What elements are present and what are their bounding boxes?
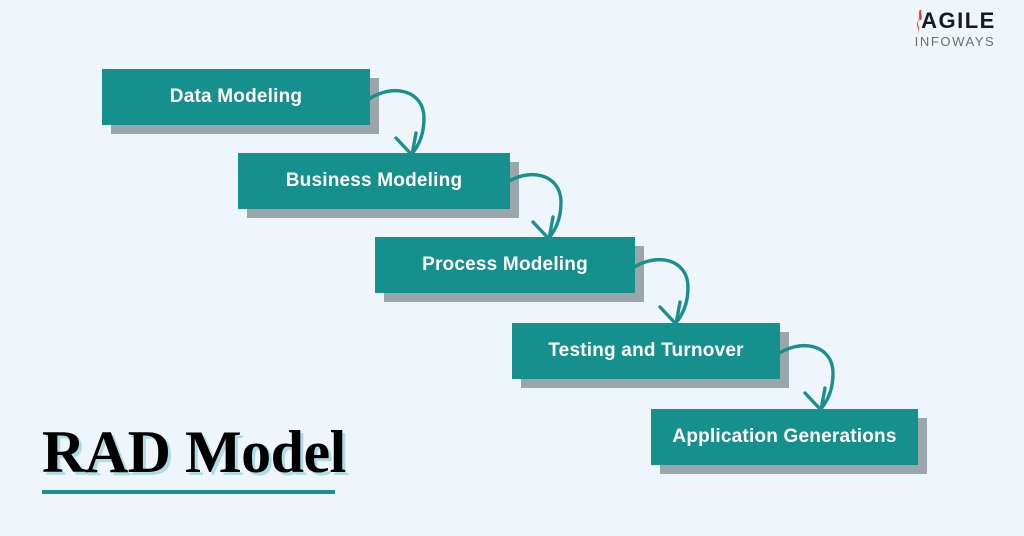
title-block: RAD Model: [42, 420, 372, 494]
flow-node-label: Testing and Turnover: [548, 340, 743, 362]
logo-primary-text: AGILE: [914, 10, 996, 32]
connector-arrow-1: [366, 80, 456, 160]
connector-arrow-3: [630, 249, 720, 329]
diagram-canvas: AGILE INFOWAYS Data Modeling Business Mo…: [0, 0, 1024, 536]
flow-node-testing-and-turnover[interactable]: Testing and Turnover: [512, 323, 780, 379]
connector-arrow-2: [503, 164, 593, 244]
flow-node-label: Process Modeling: [422, 254, 588, 276]
agile-infoways-logo: AGILE INFOWAYS: [900, 10, 1010, 56]
flow-node-label: Application Generations: [672, 426, 896, 448]
flow-node-label: Business Modeling: [286, 170, 463, 192]
logo-swoosh-icon: [913, 8, 927, 34]
flow-node-label: Data Modeling: [170, 86, 302, 108]
title-underline: [42, 490, 335, 494]
flow-node-application-generations[interactable]: Application Generations: [651, 409, 918, 465]
connector-arrow-4: [775, 335, 865, 415]
logo-secondary-label: INFOWAYS: [900, 35, 1010, 48]
logo-primary-label: AGILE: [921, 8, 996, 33]
flow-node-process-modeling[interactable]: Process Modeling: [375, 237, 635, 293]
page-title: RAD Model: [42, 420, 372, 484]
flow-node-business-modeling[interactable]: Business Modeling: [238, 153, 510, 209]
flow-node-data-modeling[interactable]: Data Modeling: [102, 69, 370, 125]
